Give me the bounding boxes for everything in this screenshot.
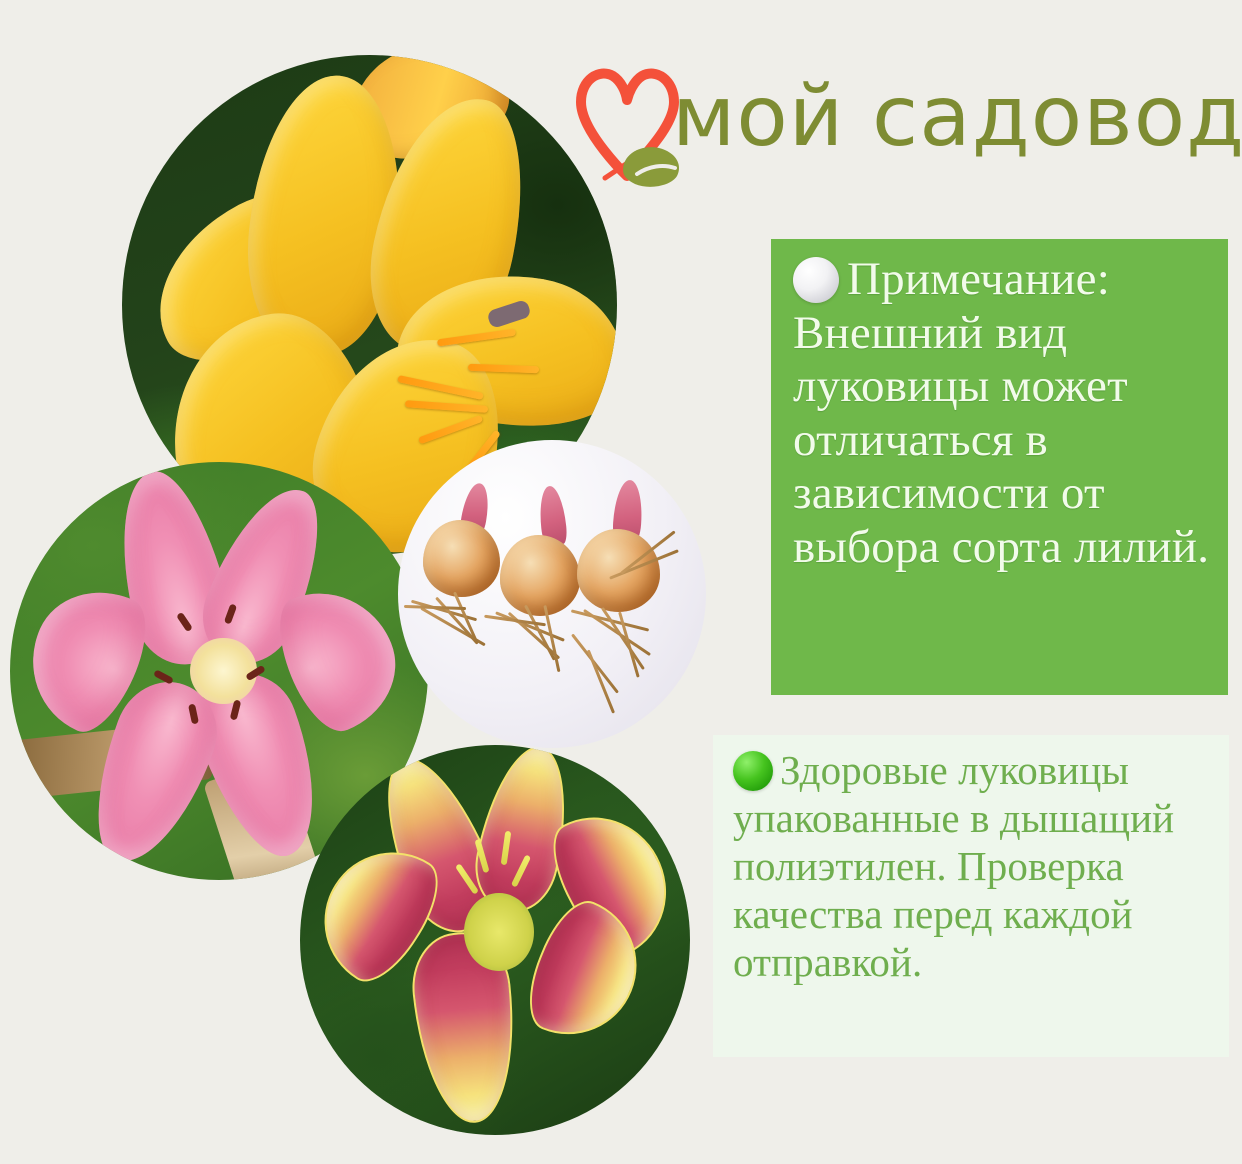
- bicolor-lily-center: [464, 893, 534, 971]
- lily-bulbs-photo: [398, 440, 706, 748]
- quality-panel-text: Здоровые луковицы упакованные в дышащий …: [733, 747, 1213, 987]
- quality-panel-body: Здоровые луковицы упакованные в дышащий …: [733, 747, 1174, 985]
- lily-bulb: [577, 529, 660, 612]
- white-circle-bullet-icon: [793, 257, 839, 303]
- green-circle-bullet-icon: [733, 751, 773, 791]
- lily-bulb: [423, 520, 500, 597]
- bicolor-lily-photo: [300, 745, 690, 1135]
- poster-canvas: мой садовод: [0, 0, 1242, 1164]
- brand-logo[interactable]: мой садовод: [575, 58, 1220, 208]
- lily-bulb: [500, 535, 580, 615]
- note-panel-text: Примечание: Внешний вид луковицы может о…: [793, 253, 1210, 574]
- pink-lily-center: [190, 638, 257, 705]
- brand-name: мой садовод: [672, 72, 1242, 160]
- note-panel: Примечание: Внешний вид луковицы может о…: [771, 239, 1228, 695]
- quality-panel: Здоровые луковицы упакованные в дышащий …: [713, 735, 1229, 1057]
- note-panel-body: Примечание: Внешний вид луковицы может о…: [793, 253, 1209, 573]
